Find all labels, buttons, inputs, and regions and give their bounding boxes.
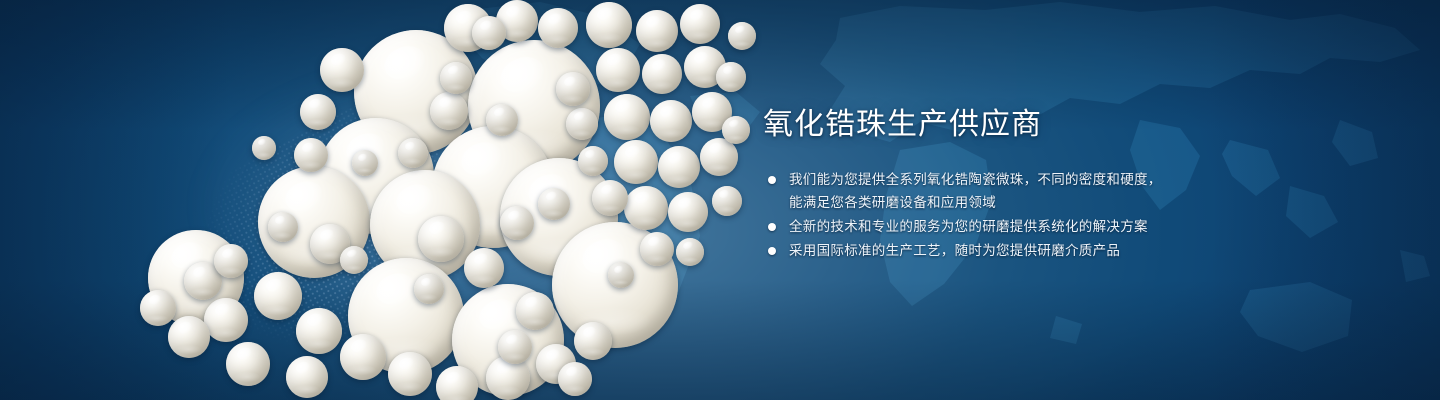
list-item-line-1: 采用国际标准的生产工艺，随时为您提供研磨介质产品 bbox=[789, 243, 1120, 258]
page-title: 氧化锆珠生产供应商 bbox=[763, 106, 1383, 144]
bullet-dot-icon bbox=[768, 176, 776, 184]
list-item: 采用国际标准的生产工艺，随时为您提供研磨介质产品 bbox=[763, 239, 1383, 262]
banner-content: 氧化锆珠生产供应商 我们能为您提供全系列氧化锆陶瓷微珠，不同的密度和硬度， 能满… bbox=[763, 106, 1383, 263]
list-item-line-2: 能满足您各类研磨设备和应用领域 bbox=[789, 191, 1383, 214]
list-item-line-1: 我们能为您提供全系列氧化锆陶瓷微珠，不同的密度和硬度， bbox=[789, 172, 1162, 187]
list-item: 全新的技术和专业的服务为您的研磨提供系统化的解决方案 bbox=[763, 215, 1383, 238]
feature-list: 我们能为您提供全系列氧化锆陶瓷微珠，不同的密度和硬度， 能满足您各类研磨设备和应… bbox=[763, 168, 1383, 262]
list-item-line-1: 全新的技术和专业的服务为您的研磨提供系统化的解决方案 bbox=[789, 219, 1148, 234]
bullet-dot-icon bbox=[768, 247, 776, 255]
hero-banner: 氧化锆珠生产供应商 我们能为您提供全系列氧化锆陶瓷微珠，不同的密度和硬度， 能满… bbox=[0, 0, 1440, 400]
list-item: 我们能为您提供全系列氧化锆陶瓷微珠，不同的密度和硬度， 能满足您各类研磨设备和应… bbox=[763, 168, 1383, 214]
bullet-dot-icon bbox=[768, 223, 776, 231]
